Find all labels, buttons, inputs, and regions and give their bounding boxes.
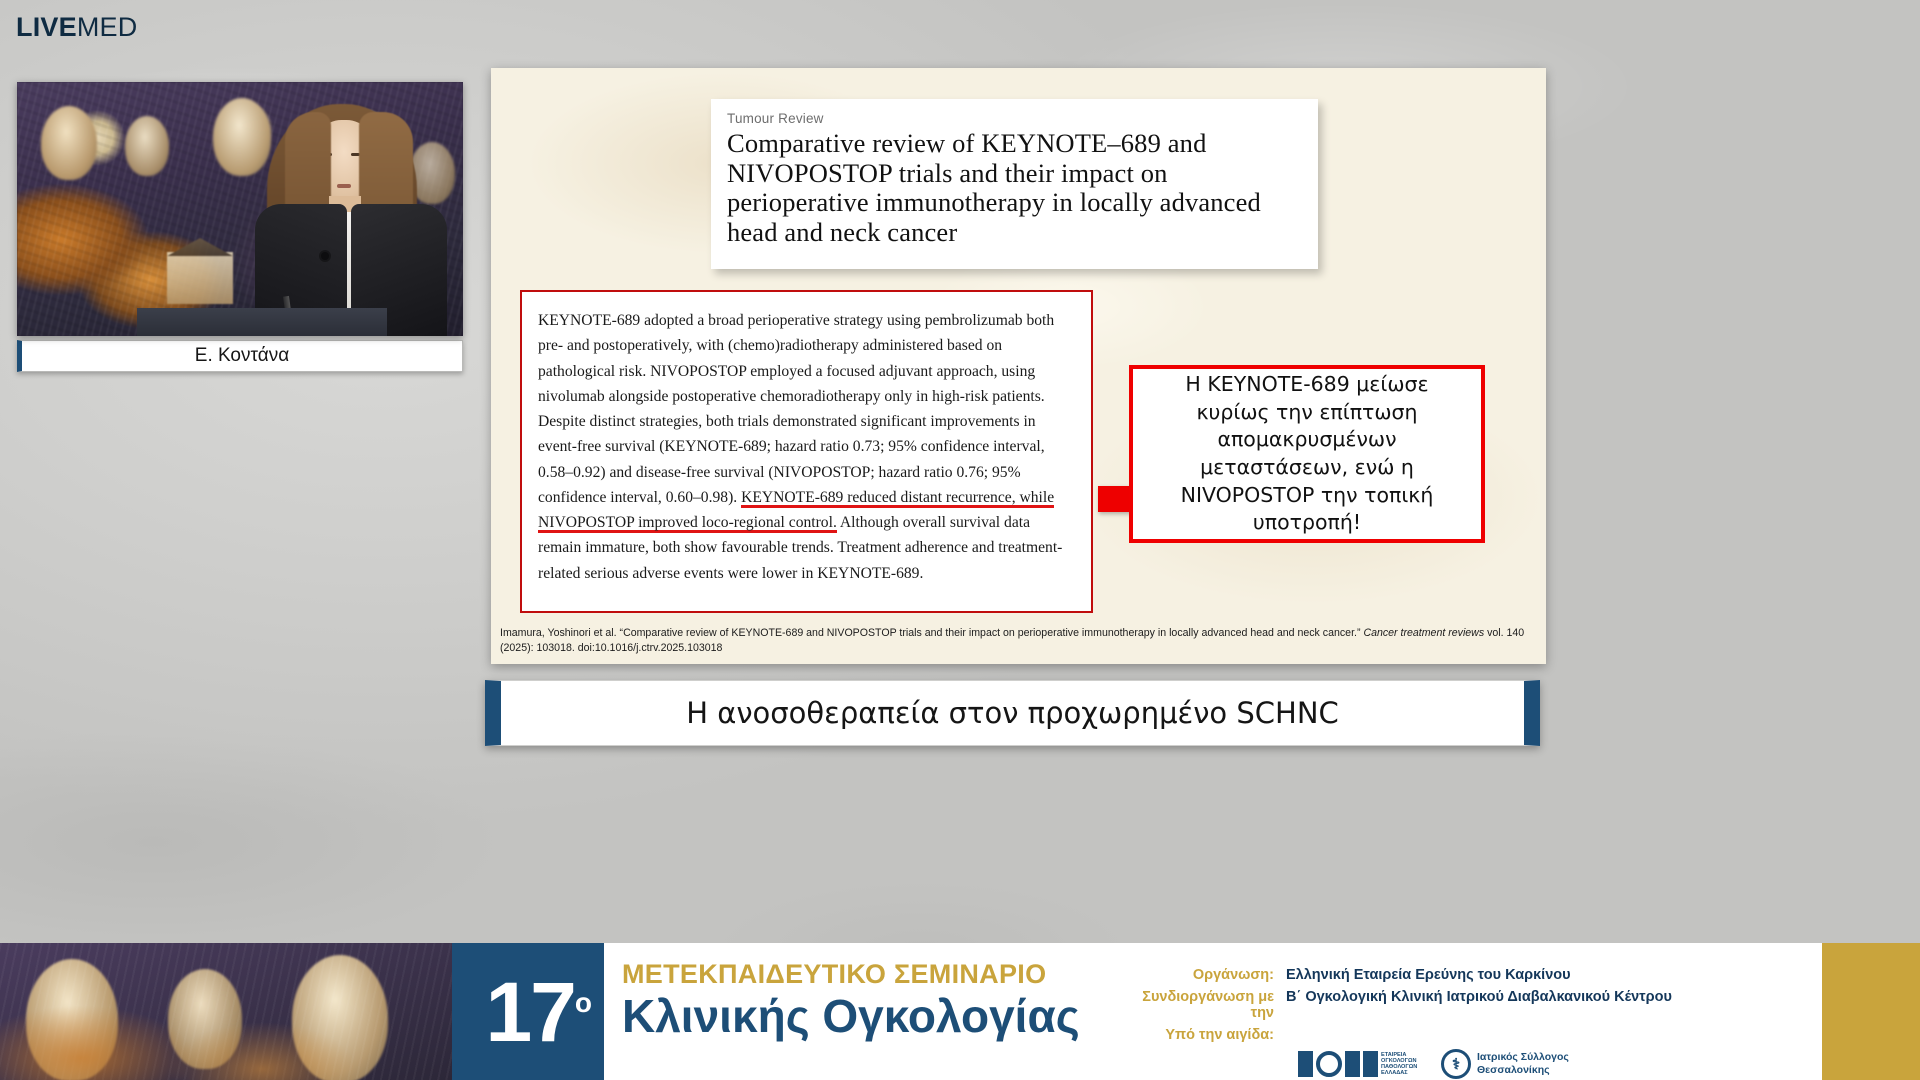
footer-logo-row: ΕΤΑΙΡΕΙΑ ΟΓΚΟΛΟΓΩΝ ΠΑΘΟΛΟΓΩΝ ΕΛΛΑΔΑΣ ⚕ Ι… (1124, 1049, 1822, 1079)
lapel-microphone-icon (321, 252, 329, 260)
organizer-row: Οργάνωση: Ελληνική Εταιρεία Ερεύνης του … (1124, 967, 1822, 983)
presenter-figure (227, 100, 463, 336)
player-stage: LIVEMED Ε. Κοντάν (0, 0, 1920, 1080)
organizer-value-2: Β΄ Ογκολογική Κλινική Ιατρικού Διαβαλκαν… (1286, 989, 1672, 1005)
footer-organizers: Οργάνωση: Ελληνική Εταιρεία Ερεύνης του … (1114, 943, 1822, 1080)
presentation-slide[interactable]: Tumour Review Comparative review of KEYN… (491, 68, 1546, 664)
speaker-name-plate: Ε. Κοντάνα (17, 340, 463, 372)
abstract-summary-text: KEYNOTE-689 adopted a broad perioperativ… (538, 308, 1077, 586)
abstract-summary-box: KEYNOTE-689 adopted a broad perioperativ… (520, 290, 1093, 613)
coorganizer-row: Συνδιοργάνωση με την Β΄ Ογκολογική Κλινι… (1124, 989, 1822, 1021)
key-message-text: Η KEYNOTE-689 μείωσε κυρίως την επίπτωση… (1151, 371, 1463, 537)
footer-gold-accent (1822, 943, 1920, 1080)
journal-article-title: Comparative review of KEYNOTE–689 and NI… (727, 129, 1302, 248)
key-message-callout: Η KEYNOTE-689 μείωσε κυρίως την επίπτωση… (1129, 365, 1485, 543)
speaker-card: Ε. Κοντάνα (17, 82, 463, 372)
footer-artwork (0, 943, 452, 1080)
presentation-title-text: Η ανοσοθεραπεία στον προχωρημένο SCHNC (686, 696, 1339, 730)
footer-event-name: ΜΕΤΕΚΠΑΙΔΕΥΤΙΚΟ ΣΕΜΙΝΑΡΙΟ Κλινικής Ογκολ… (604, 943, 1114, 1080)
edition-number-value: 17 (485, 965, 574, 1059)
iatrikos-line2: Θεσσαλονίκης (1477, 1064, 1569, 1077)
eope-logo-subtext: ΕΤΑΙΡΕΙΑ ΟΓΚΟΛΟΓΩΝ ΠΑΘΟΛΟΓΩΝ ΕΛΛΑΔΑΣ (1381, 1052, 1425, 1077)
iatrikos-logo-text: Ιατρικός Σύλλογος Θεσσαλονίκης (1477, 1051, 1569, 1076)
abstract-part-1: KEYNOTE-689 adopted a broad perioperativ… (538, 312, 1054, 506)
eope-logo: ΕΤΑΙΡΕΙΑ ΟΓΚΟΛΟΓΩΝ ΠΑΘΟΛΟΓΩΝ ΕΛΛΑΔΑΣ (1298, 1051, 1425, 1077)
footer-event-line1: ΜΕΤΕΚΠΑΙΔΕΥΤΙΚΟ ΣΕΜΙΝΑΡΙΟ (622, 959, 1114, 990)
footer-edition-number: 17ο (485, 970, 590, 1054)
organizer-value-1: Ελληνική Εταιρεία Ερεύνης του Καρκίνου (1286, 967, 1571, 983)
livemed-logo: LIVEMED (16, 12, 137, 43)
logo-live-text: LIVE (16, 12, 77, 42)
iatrikos-badge-icon: ⚕ (1441, 1049, 1471, 1079)
journal-section-kicker: Tumour Review (727, 111, 1302, 126)
iatrikos-line1: Ιατρικός Σύλλογος (1477, 1051, 1569, 1064)
presentation-title-bar: Η ανοσοθεραπεία στον προχωρημένο SCHNC (485, 680, 1540, 746)
citation-journal-name: Cancer treatment reviews (1363, 627, 1484, 639)
edition-ordinal-value: ο (575, 987, 590, 1018)
conference-footer-banner: 17ο ΜΕΤΕΚΠΑΙΔΕΥΤΙΚΟ ΣΕΜΙΝΑΡΙΟ Κλινικής Ο… (0, 943, 1920, 1080)
citation-part-1: Imamura, Yoshinori et al. “Comparative r… (500, 627, 1363, 639)
organizer-label-3: Υπό την αιγίδα: (1124, 1027, 1286, 1043)
speaker-video-feed[interactable] (17, 82, 463, 336)
podium (137, 308, 387, 336)
journal-title-card: Tumour Review Comparative review of KEYN… (711, 99, 1318, 269)
logo-med-text: MED (77, 12, 138, 42)
organizer-label-1: Οργάνωση: (1124, 967, 1286, 983)
auspices-row: Υπό την αιγίδα: (1124, 1027, 1822, 1043)
footer-edition-block: 17ο (452, 943, 604, 1080)
slide-citation: Imamura, Yoshinori et al. “Comparative r… (500, 626, 1536, 657)
footer-event-line2: Κλινικής Ογκολογίας (622, 992, 1114, 1040)
organizer-label-2: Συνδιοργάνωση με την (1124, 989, 1286, 1021)
iatrikos-syllogos-logo: ⚕ Ιατρικός Σύλλογος Θεσσαλονίκης (1441, 1049, 1569, 1079)
